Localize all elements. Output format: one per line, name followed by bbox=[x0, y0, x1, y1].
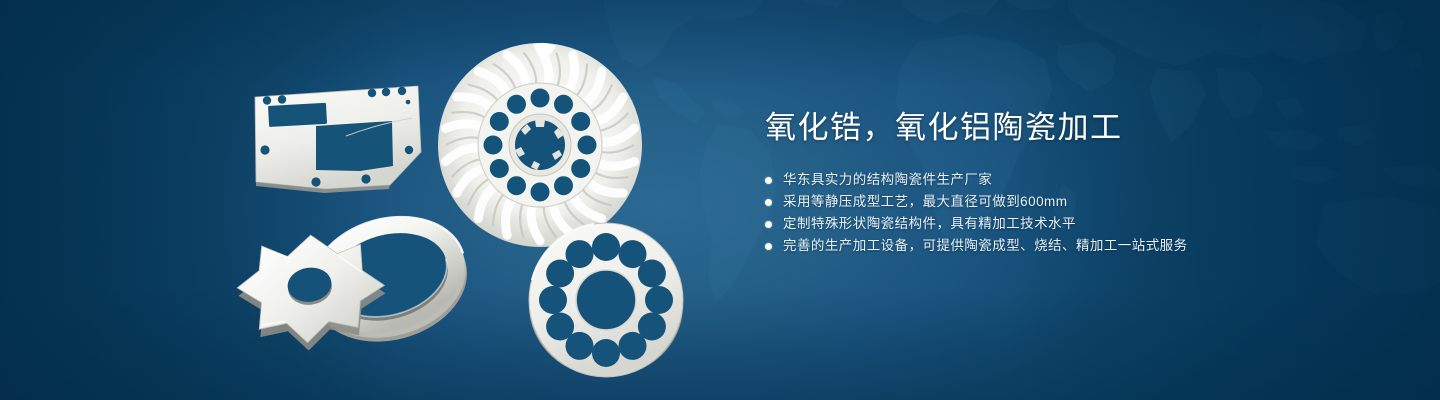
list-item: 华东具实力的结构陶瓷件生产厂家 bbox=[765, 169, 1325, 191]
page-title: 氧化锆，氧化铝陶瓷加工 bbox=[765, 108, 1325, 148]
list-item: 定制特殊形状陶瓷结构件，具有精加工技术水平 bbox=[765, 213, 1325, 235]
list-item: 完善的生产加工设备，可提供陶瓷成型、烧结、精加工一站式服务 bbox=[765, 235, 1325, 257]
hero-banner: 氧化锆，氧化铝陶瓷加工 华东具实力的结构陶瓷件生产厂家 采用等静压成型工艺，最大… bbox=[0, 0, 1440, 400]
list-item-label: 完善的生产加工设备，可提供陶瓷成型、烧结、精加工一站式服务 bbox=[783, 235, 1188, 257]
bullet-dot-icon bbox=[765, 243, 772, 250]
ceramic-plate-part bbox=[254, 86, 421, 193]
product-photo-group bbox=[220, 40, 740, 380]
ceramic-impeller-part bbox=[438, 43, 642, 247]
list-item-label: 华东具实力的结构陶瓷件生产厂家 bbox=[783, 169, 992, 191]
list-item-label: 定制特殊形状陶瓷结构件，具有精加工技术水平 bbox=[783, 213, 1076, 235]
bullet-dot-icon bbox=[765, 177, 772, 184]
bullet-dot-icon bbox=[765, 199, 772, 206]
ceramic-perforated-disc-part bbox=[529, 223, 683, 377]
list-item-label: 采用等静压成型工艺，最大直径可做到600mm bbox=[783, 191, 1067, 213]
list-item: 采用等静压成型工艺，最大直径可做到600mm bbox=[765, 191, 1325, 213]
bullet-dot-icon bbox=[765, 221, 772, 228]
banner-copy: 氧化锆，氧化铝陶瓷加工 华东具实力的结构陶瓷件生产厂家 采用等静压成型工艺，最大… bbox=[765, 108, 1325, 257]
feature-list: 华东具实力的结构陶瓷件生产厂家 采用等静压成型工艺，最大直径可做到600mm 定… bbox=[765, 169, 1325, 257]
